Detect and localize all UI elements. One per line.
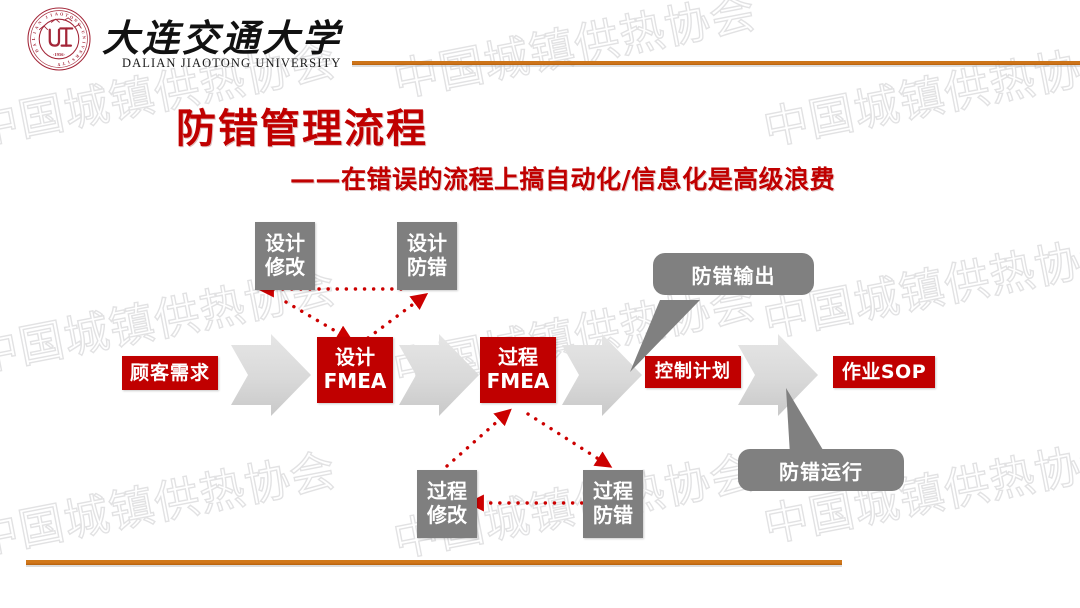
node-label: 控制计划: [655, 361, 731, 382]
node-design-fmea[interactable]: 设计 FMEA: [317, 337, 393, 403]
svg-text:T: T: [65, 12, 69, 18]
node-label: 顾客需求: [130, 362, 210, 384]
node-label-top: 过程: [498, 346, 538, 370]
design-loop-arrows: [262, 289, 424, 339]
svg-text:G: G: [76, 21, 82, 27]
node-process-fmea[interactable]: 过程 FMEA: [480, 337, 556, 403]
svg-text:O: O: [60, 11, 65, 16]
node-label-bottom: 修改: [265, 256, 305, 280]
node-design-modify[interactable]: 设计 修改: [255, 222, 315, 290]
svg-text:N: N: [82, 36, 87, 39]
header-rule: [352, 61, 1080, 65]
svg-text:V: V: [80, 45, 86, 50]
svg-text:I: I: [32, 31, 37, 34]
university-logo: D A L I A N J I A O T O N G U N I V E R: [18, 4, 338, 76]
university-name-en: DALIAN JIAOTONG UNIVERSITY: [122, 56, 341, 71]
node-label-top: 设计: [265, 232, 305, 256]
svg-text:I: I: [50, 12, 53, 17]
arrow-design-fmea-to-design-anti: [368, 296, 424, 338]
arrow-process-fmea-to-process-anti: [528, 414, 608, 465]
svg-text:A: A: [31, 42, 37, 47]
node-label-bottom: 修改: [427, 504, 467, 528]
arrow-process-mod-to-process-fmea: [447, 412, 508, 466]
node-operation-sop[interactable]: 作业SOP: [833, 356, 935, 388]
svg-text:E: E: [78, 50, 84, 55]
svg-text:U: U: [80, 30, 86, 34]
node-process-error-proofing[interactable]: 过程 防错: [583, 470, 643, 538]
node-control-plan[interactable]: 控制计划: [645, 356, 741, 388]
node-label-bottom: 防错: [593, 504, 633, 528]
svg-text:D: D: [34, 48, 40, 53]
page-title: 防错管理流程: [176, 96, 428, 154]
node-label-top: 设计: [407, 232, 447, 256]
node-label-bottom: FMEA: [487, 370, 550, 394]
svg-text:L: L: [31, 37, 36, 40]
node-label-top: 过程: [593, 480, 633, 504]
svg-text:S: S: [71, 57, 76, 63]
node-label-top: 过程: [427, 480, 467, 504]
node-label: 作业SOP: [842, 361, 926, 383]
node-label-top: 设计: [335, 346, 375, 370]
callout-error-proofing-running[interactable]: 防错运行: [738, 449, 904, 491]
callout-error-proofing-output[interactable]: 防错输出: [653, 253, 814, 295]
university-seal-icon: D A L I A N J I A O T O N G U N I V E R: [26, 6, 92, 72]
svg-text:I: I: [67, 60, 71, 65]
node-customer-requirement[interactable]: 顾客需求: [122, 356, 218, 390]
svg-text:·1956·: ·1956·: [53, 52, 66, 57]
slide-canvas: 中国城镇供热协会 中国城镇供热协会 中国城镇供热协会 中国城镇供热协会 中国城镇…: [0, 0, 1080, 608]
node-process-modify[interactable]: 过程 修改: [417, 470, 477, 538]
svg-text:A: A: [55, 11, 60, 16]
svg-text:N: N: [73, 17, 79, 23]
callout-label: 防错运行: [779, 456, 863, 485]
university-name-cn: 大连交通大学: [102, 8, 342, 62]
node-label-bottom: FMEA: [324, 370, 387, 394]
svg-text:Y: Y: [57, 62, 60, 67]
node-design-error-proofing[interactable]: 设计 防错: [397, 222, 457, 290]
svg-text:I: I: [81, 41, 86, 44]
footer-rule: [26, 560, 842, 565]
node-label-bottom: 防错: [407, 256, 447, 280]
svg-text:N: N: [37, 20, 43, 26]
svg-text:J: J: [44, 14, 48, 19]
page-subtitle: ——在错误的流程上搞自动化/信息化是高级浪费: [290, 160, 835, 196]
svg-text:T: T: [62, 61, 66, 66]
callout-label: 防错输出: [692, 260, 776, 289]
flow-diagram: [0, 0, 1080, 608]
svg-text:A: A: [34, 24, 40, 30]
arrow-design-mod-to-design-fmea: [286, 302, 349, 339]
